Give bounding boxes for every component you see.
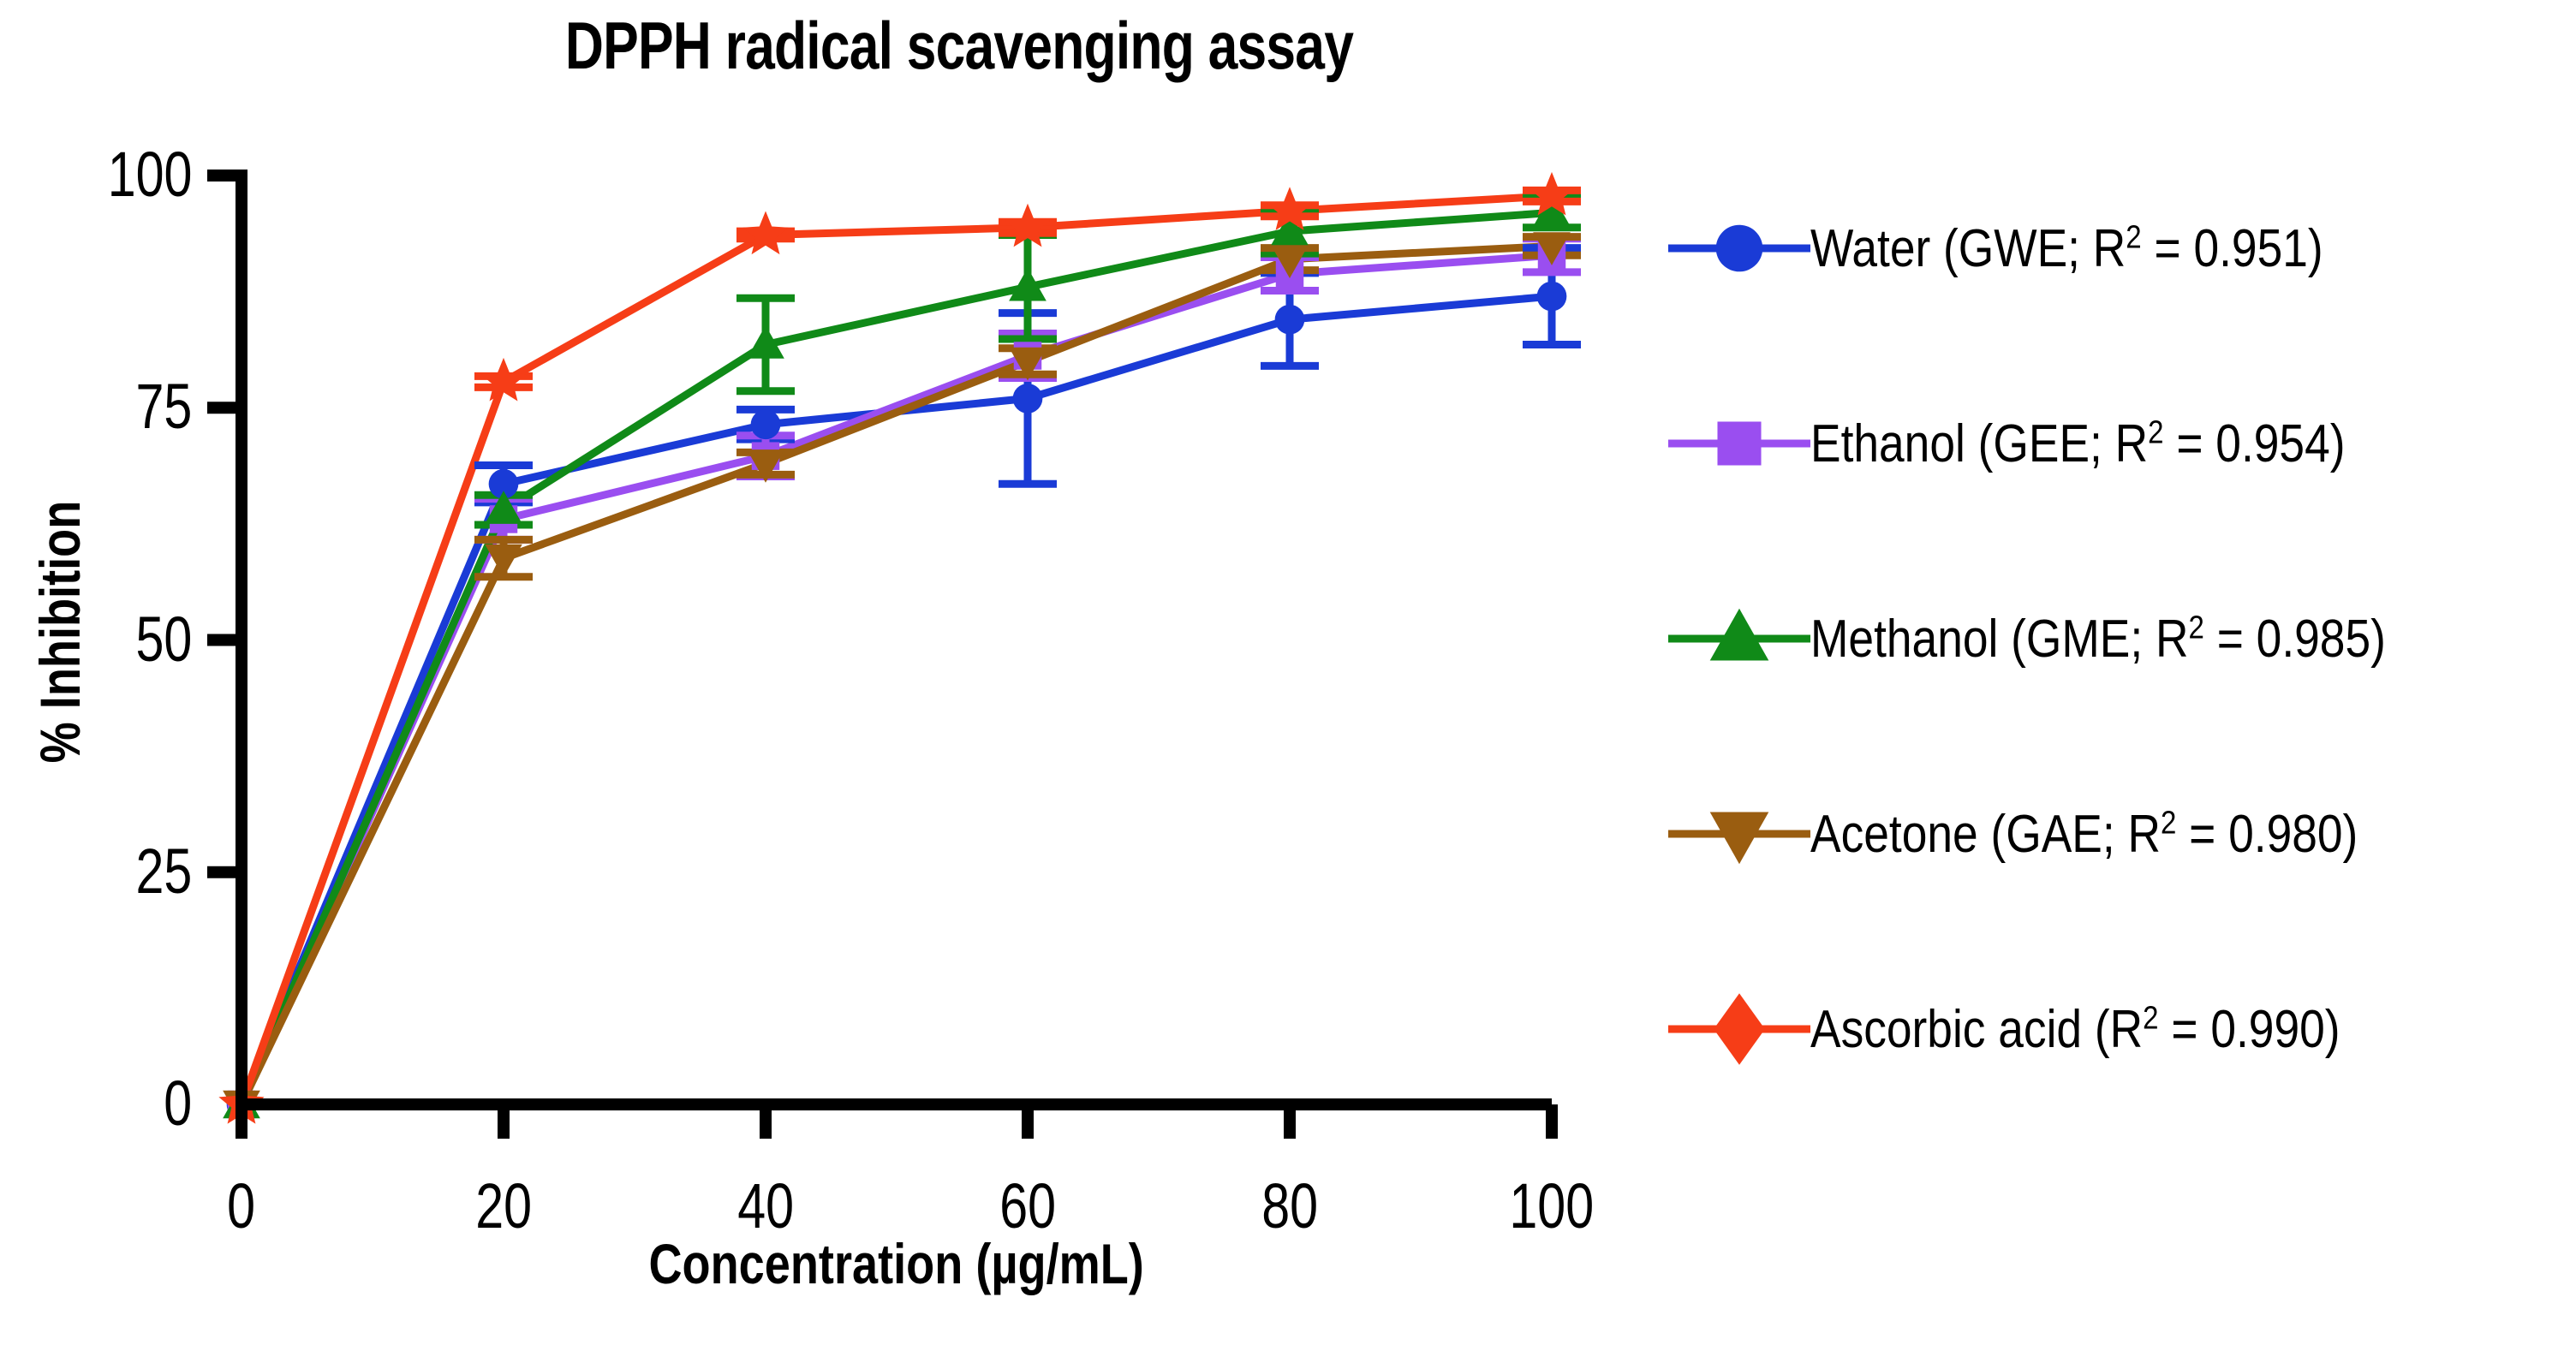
- series-line-methanol: [241, 212, 1552, 1104]
- chart-legend: Water (GWE; R2 = 0.951)Ethanol (GEE; R2 …: [1668, 151, 2576, 1127]
- legend-item-4[interactable]: Ascorbic acid (R2 = 0.990): [1668, 931, 2576, 1127]
- y-axis-title: % Inhibition: [27, 366, 92, 897]
- legend-item-2[interactable]: Methanol (GME; R2 = 0.985): [1668, 541, 2576, 736]
- data-point-water: [1275, 305, 1305, 335]
- legend-item-0[interactable]: Water (GWE; R2 = 0.951): [1668, 151, 2576, 346]
- y-tick-label: 25: [135, 835, 192, 908]
- legend-marker: [1716, 225, 1763, 272]
- legend-label: Acetone (GAE; R2 = 0.980): [1810, 804, 2358, 865]
- legend-marker: [1717, 421, 1761, 465]
- legend-label: Ascorbic acid (R2 = 0.990): [1810, 999, 2340, 1060]
- legend-marker-icon: [1668, 388, 1810, 499]
- data-point-water: [1537, 282, 1567, 312]
- data-point-water: [751, 409, 781, 439]
- y-tick-label: 0: [164, 1067, 192, 1140]
- x-axis-title: Concentration (µg/mL): [241, 1231, 1552, 1296]
- x-axis-title-text: Concentration (µg/mL): [649, 1231, 1144, 1296]
- legend-label: Water (GWE; R2 = 0.951): [1810, 218, 2323, 279]
- legend-marker: [1710, 812, 1769, 864]
- data-point-water: [1013, 384, 1043, 414]
- legend-marker-icon: [1668, 778, 1810, 890]
- legend-item-3[interactable]: Acetone (GAE; R2 = 0.980): [1668, 736, 2576, 931]
- legend-marker: [1714, 993, 1765, 1065]
- data-point-acetone: [485, 545, 522, 578]
- legend-label: Methanol (GME; R2 = 0.985): [1810, 609, 2386, 670]
- data-point-ascorbic-acid: [480, 358, 526, 402]
- legend-label: Ethanol (GEE; R2 = 0.954): [1810, 414, 2345, 474]
- legend-item-1[interactable]: Ethanol (GEE; R2 = 0.954): [1668, 346, 2576, 541]
- series-line-ethanol: [241, 255, 1552, 1104]
- series-line-acetone: [241, 246, 1552, 1104]
- y-tick-label: 50: [135, 603, 192, 675]
- legend-marker: [1710, 609, 1769, 661]
- y-axis-title-text: % Inhibition: [27, 501, 92, 764]
- y-tick-label: 100: [107, 138, 192, 211]
- legend-marker-icon: [1668, 973, 1810, 1085]
- legend-marker-icon: [1668, 583, 1810, 694]
- y-tick-label: 75: [135, 370, 192, 443]
- series-layer: [218, 172, 1581, 1124]
- legend-marker-icon: [1668, 193, 1810, 304]
